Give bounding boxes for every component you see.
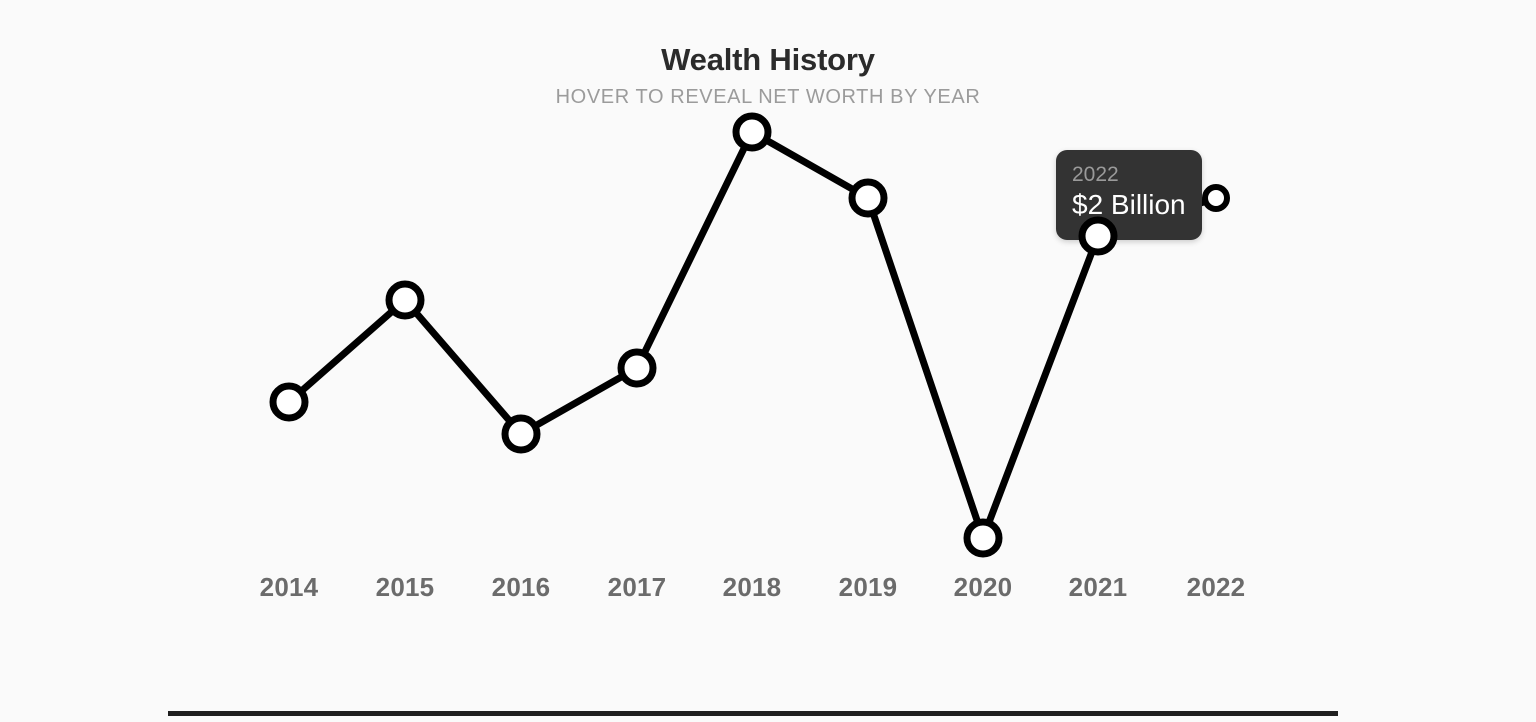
x-axis-label-2020: 2020 bbox=[954, 572, 1013, 603]
x-axis-label-2019: 2019 bbox=[839, 572, 898, 603]
x-axis-label-2017: 2017 bbox=[608, 572, 667, 603]
x-axis-label-2015: 2015 bbox=[376, 572, 435, 603]
x-axis-label-2021: 2021 bbox=[1069, 572, 1128, 603]
x-axis-label-2018: 2018 bbox=[723, 572, 782, 603]
x-axis-label-2016: 2016 bbox=[492, 572, 551, 603]
x-axis-label-2014: 2014 bbox=[260, 572, 319, 603]
x-axis: 201420152016201720182019202020212022 bbox=[0, 572, 1536, 612]
bottom-divider bbox=[168, 711, 1338, 716]
x-axis-label-2022: 2022 bbox=[1187, 572, 1246, 603]
data-point-2022[interactable] bbox=[1205, 187, 1227, 209]
data-point-2021[interactable] bbox=[1082, 220, 1114, 252]
hovered-marker-layer bbox=[0, 0, 1536, 722]
chart-canvas: Wealth History HOVER TO REVEAL NET WORTH… bbox=[0, 0, 1536, 722]
